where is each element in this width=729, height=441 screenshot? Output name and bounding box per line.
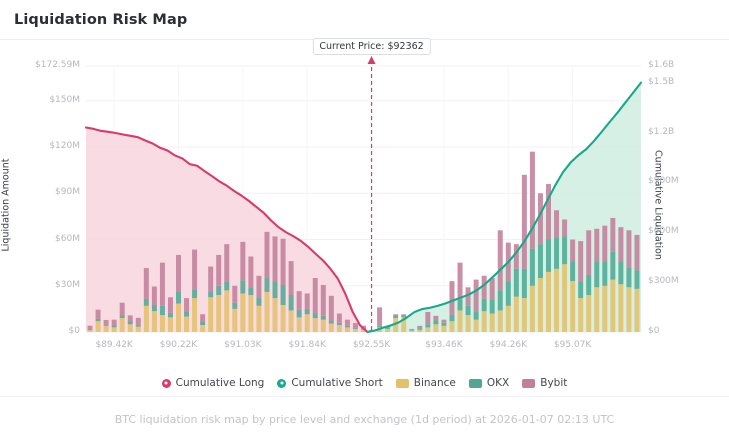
x-axis-tick: $94.26K (478, 340, 538, 350)
y-axis-right-tick: $300M (648, 276, 679, 286)
legend-color-swatch-icon (396, 379, 409, 388)
x-axis-tick: $92.55K (342, 340, 402, 350)
y-axis-left-tick: $120M (49, 141, 80, 151)
plot-area: Liquidation Amount Cumulative Liquidatio… (0, 40, 729, 370)
x-axis-tick: $90.22K (149, 340, 209, 350)
x-axis-tick: $91.03K (213, 340, 273, 350)
chart-legend: Cumulative LongCumulative ShortBinanceOK… (0, 370, 729, 396)
legend-item-label: Bybit (540, 377, 567, 389)
x-axis-tick: $95.07K (543, 340, 603, 350)
legend-item-label: Cumulative Short (291, 377, 382, 389)
y-axis-left-tick: $172.59M (35, 60, 80, 70)
chart-card: Liquidation Risk Map Liquidation Amount … (0, 0, 729, 441)
legend-item-label: Binance (414, 377, 456, 389)
legend-item-label: OKX (487, 377, 509, 389)
legend-item-bybit[interactable]: Bybit (522, 377, 567, 389)
x-axis-tick: $89.42K (84, 340, 144, 350)
x-axis-tick: $93.46K (414, 340, 474, 350)
y-axis-right-tick: $0 (648, 326, 659, 336)
y-axis-right-tick: $600M (648, 226, 679, 236)
y-axis-right-tick: $900M (648, 176, 679, 186)
legend-item-cumulative-short[interactable]: Cumulative Short (277, 377, 382, 389)
legend-item-okx[interactable]: OKX (469, 377, 509, 389)
y-axis-left-tick: $90M (55, 187, 80, 197)
y-axis-left-tick: $60M (55, 234, 80, 244)
legend-line-marker-icon (277, 379, 286, 388)
y-axis-right-tick: $1.5B (648, 77, 674, 87)
y-axis-right-tick: $1.6B (648, 60, 674, 70)
y-axis-left-tick: $0 (69, 326, 80, 336)
x-axis-tick: $91.84K (277, 340, 337, 350)
chart-caption: BTC liquidation risk map by price level … (0, 396, 729, 441)
legend-color-swatch-icon (469, 379, 482, 388)
legend-item-cumulative-long[interactable]: Cumulative Long (162, 377, 265, 389)
card-header: Liquidation Risk Map (0, 0, 729, 40)
legend-item-binance[interactable]: Binance (396, 377, 456, 389)
y-axis-left-tick: $150M (49, 95, 80, 105)
legend-color-swatch-icon (522, 379, 535, 388)
legend-line-marker-icon (162, 379, 171, 388)
y-axis-left-tick: $30M (55, 280, 80, 290)
legend-item-label: Cumulative Long (176, 377, 265, 389)
y-axis-right-tick: $1.2B (648, 127, 674, 137)
liquidation-risk-chart (0, 40, 729, 370)
page-title: Liquidation Risk Map (14, 12, 187, 28)
